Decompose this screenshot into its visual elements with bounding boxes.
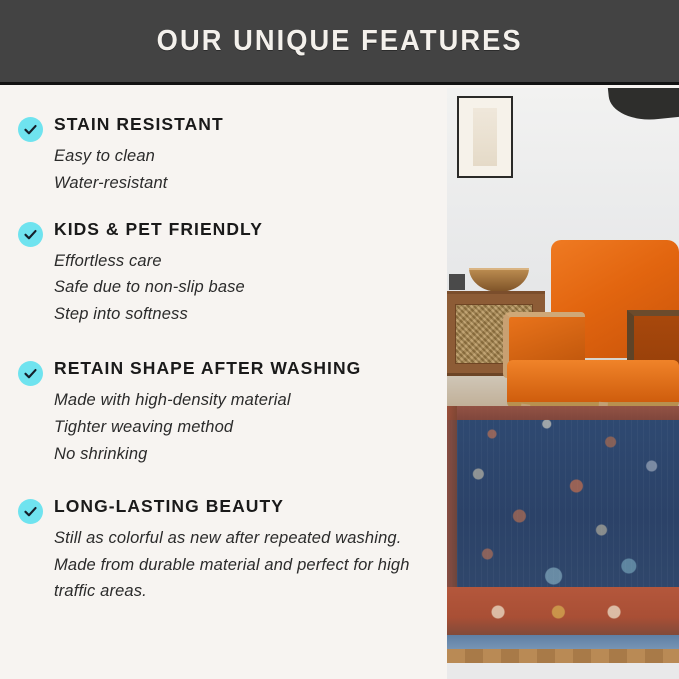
feature-item: RETAIN SHAPE AFTER WASHING Made with hig… xyxy=(18,358,437,468)
check-circle-icon xyxy=(18,499,43,524)
feature-detail-line: Still as colorful as new after repeated … xyxy=(54,525,437,606)
feature-text: LONG-LASTING BEAUTY Still as colorful as… xyxy=(54,496,437,606)
feature-detail-line: Step into softness xyxy=(54,301,437,328)
feature-title: RETAIN SHAPE AFTER WASHING xyxy=(54,358,437,380)
feature-detail-line: No shrinking xyxy=(54,441,437,468)
feature-detail-line: Easy to clean xyxy=(54,143,437,170)
feature-title: KIDS & PET FRIENDLY xyxy=(54,219,437,241)
feature-item: LONG-LASTING BEAUTY Still as colorful as… xyxy=(18,496,437,606)
check-circle-icon xyxy=(18,222,43,247)
page-title: OUR UNIQUE FEATURES xyxy=(157,25,523,58)
feature-text: RETAIN SHAPE AFTER WASHING Made with hig… xyxy=(54,358,437,468)
photo-area-rug xyxy=(447,406,679,663)
check-circle-icon xyxy=(18,361,43,386)
feature-detail-line: Water-resistant xyxy=(54,170,437,197)
photo-decor-object xyxy=(449,274,465,290)
feature-text: KIDS & PET FRIENDLY Effortless care Safe… xyxy=(54,219,437,329)
photo-rug-border xyxy=(447,587,679,637)
feature-infographic: OUR UNIQUE FEATURES STAIN RESISTANT Easy… xyxy=(0,0,679,679)
feature-detail-line: Effortless care xyxy=(54,248,437,275)
feature-detail-line: Tighter weaving method xyxy=(54,414,437,441)
feature-text: STAIN RESISTANT Easy to clean Water-resi… xyxy=(54,114,437,197)
photo-wood-floor xyxy=(447,649,679,663)
photo-rug-border xyxy=(447,406,679,420)
product-photo xyxy=(447,88,679,679)
feature-title: STAIN RESISTANT xyxy=(54,114,437,136)
photo-art-canvas xyxy=(473,108,497,166)
feature-item: STAIN RESISTANT Easy to clean Water-resi… xyxy=(18,114,437,197)
feature-item: KIDS & PET FRIENDLY Effortless care Safe… xyxy=(18,219,437,329)
photo-framed-art xyxy=(457,96,513,178)
header-bar: OUR UNIQUE FEATURES xyxy=(0,0,679,85)
feature-detail-line: Made with high-density material xyxy=(54,387,437,414)
check-circle-icon xyxy=(18,117,43,142)
feature-title: LONG-LASTING BEAUTY xyxy=(54,496,437,518)
photo-rug-field xyxy=(451,406,679,606)
feature-detail-line: Safe due to non-slip base xyxy=(54,274,437,301)
features-panel: STAIN RESISTANT Easy to clean Water-resi… xyxy=(0,88,447,679)
photo-armchair-seat xyxy=(507,360,679,408)
content-area: STAIN RESISTANT Easy to clean Water-resi… xyxy=(0,88,679,679)
